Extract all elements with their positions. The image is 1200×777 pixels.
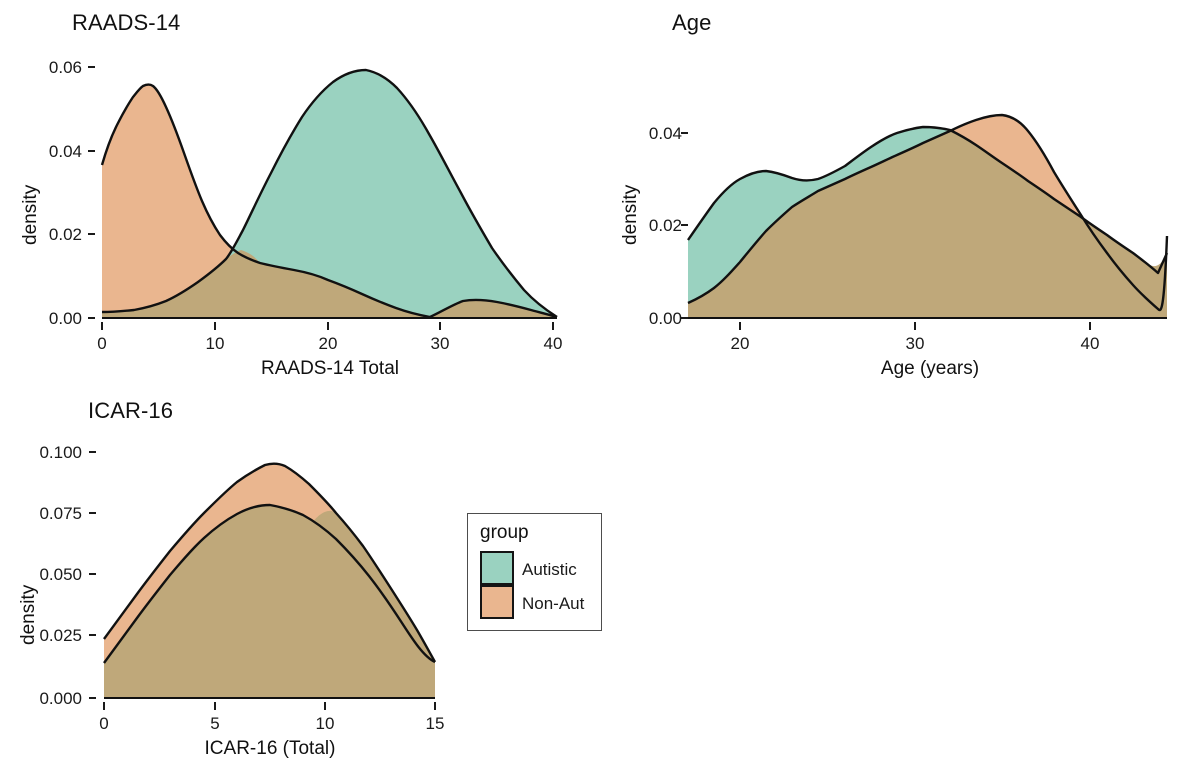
- legend-key-autistic[interactable]: [480, 551, 514, 585]
- panel2-y-tickmarks: [681, 133, 688, 318]
- panel2-xtick-2: 40: [1070, 334, 1110, 354]
- legend-key-nonaut[interactable]: [480, 585, 514, 619]
- legend-title: group: [480, 522, 529, 544]
- panel3-xtick-1: 5: [195, 714, 235, 734]
- panel3-y-tickmarks: [89, 452, 96, 698]
- panel3-xtick-3: 15: [415, 714, 455, 734]
- density-plot-figure: RAADS-14 density 0.06 0.04 0.02 0.00: [0, 0, 1200, 777]
- legend-label-autistic: Autistic: [522, 560, 577, 580]
- panel2-xtick-1: 30: [895, 334, 935, 354]
- legend-label-nonaut: Non-Aut: [522, 594, 584, 614]
- panel2-plot-area: [0, 0, 1200, 390]
- panel3-xtick-0: 0: [84, 714, 124, 734]
- panel2-x-axis-title: Age (years): [830, 358, 1030, 380]
- panel3-xtick-2: 10: [305, 714, 345, 734]
- panel2-x-tickmarks: [740, 322, 1090, 330]
- panel3-density-curves: [104, 464, 435, 698]
- panel3-x-axis-title: ICAR-16 (Total): [170, 738, 370, 760]
- panel2-xtick-0: 20: [720, 334, 760, 354]
- panel2-density-curves: [688, 115, 1167, 318]
- panel-age: Age density 0.04 0.02 0.00: [0, 0, 1200, 390]
- panel3-x-tickmarks: [104, 702, 435, 710]
- panel3-area-overlap: [104, 505, 435, 698]
